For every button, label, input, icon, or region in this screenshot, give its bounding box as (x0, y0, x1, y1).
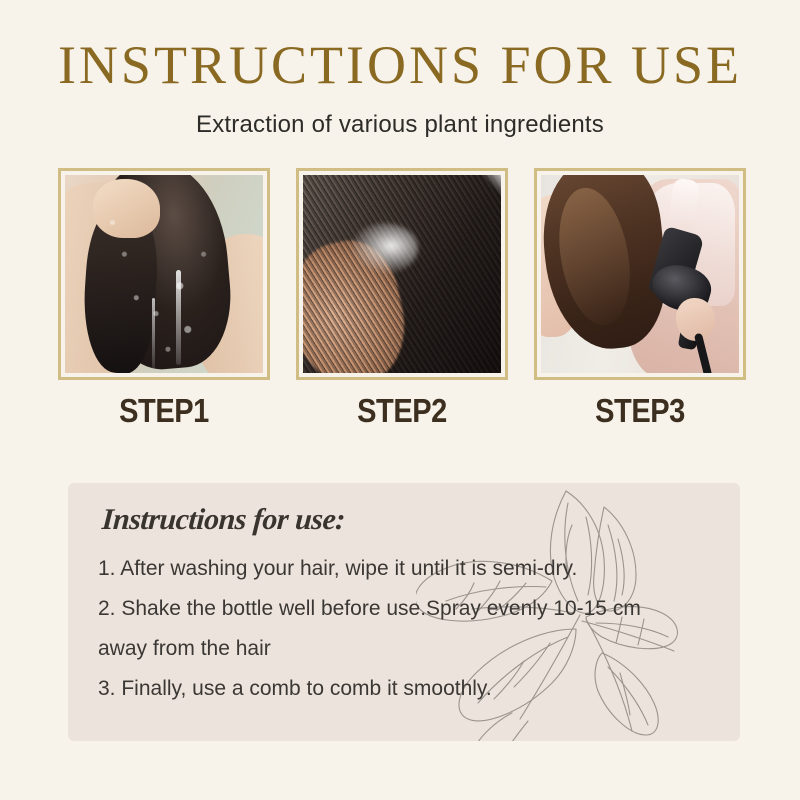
instruction-line-3: 3. Finally, use a comb to comb it smooth… (98, 669, 698, 709)
instructions-panel: Instructions for use: 1. After washing y… (68, 483, 740, 741)
lather-drip (176, 270, 181, 365)
page-subtitle: Extraction of various plant ingredients (0, 110, 800, 140)
step-card-1: STEP1 (58, 168, 270, 429)
page-title: INSTRUCTIONS FOR USE (0, 36, 800, 94)
spray-scalp-photo (303, 175, 501, 373)
instructions-for-use-page: INSTRUCTIONS FOR USE Extraction of vario… (0, 0, 800, 800)
instruction-line-2: 2. Shake the bottle well before use.Spra… (98, 589, 698, 629)
step-2-label: STEP2 (309, 393, 496, 429)
lather-drip-secondary (152, 298, 155, 369)
step-card-3: STEP3 (534, 168, 746, 429)
instructions-heading: Instructions for use: (101, 503, 346, 537)
instruction-line-1: 1. After washing your hair, wipe it unti… (98, 549, 698, 589)
steps-row: STEP1 STEP2 (58, 168, 748, 438)
water-droplets (65, 175, 263, 373)
instructions-list: 1. After washing your hair, wipe it unti… (98, 549, 698, 709)
step-3-image-frame (534, 168, 746, 380)
spray-jet-streak (386, 175, 501, 270)
step-3-label: STEP3 (547, 393, 734, 429)
step-2-image-frame (296, 168, 508, 380)
washing-hair-photo (65, 175, 263, 373)
blow-dry-photo (541, 175, 739, 373)
step-1-image-frame (58, 168, 270, 380)
instruction-line-2-continued: away from the hair (98, 629, 698, 669)
step-card-2: STEP2 (296, 168, 508, 429)
step-1-label: STEP1 (71, 393, 258, 429)
